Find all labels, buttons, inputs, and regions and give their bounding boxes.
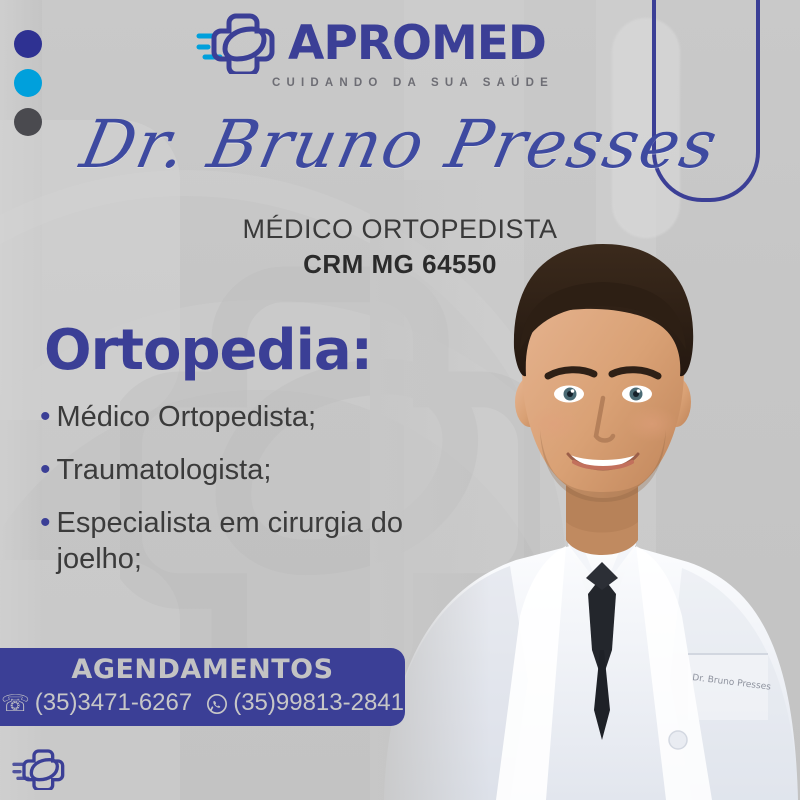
doctor-crm: CRM MG 64550	[0, 249, 800, 280]
logo-tagline: CUIDANDO DA SUA SAÚDE	[272, 77, 554, 89]
medical-cross-leaf-icon	[196, 12, 280, 74]
whatsapp-link[interactable]: (35)99813-2841	[206, 689, 404, 717]
page-title: Ortopedia:	[44, 318, 372, 383]
list-item-label: Especialista em cirurgia do joelho;	[57, 506, 460, 578]
contact-row: ☏ (35)3471-6267 (35)99813-2841	[0, 689, 405, 717]
list-item: • Especialista em cirurgia do joelho;	[40, 506, 460, 578]
whatsapp-number: (35)99813-2841	[233, 689, 404, 717]
doctor-role: MÉDICO ORTOPEDISTA	[0, 214, 800, 245]
dot-cyan	[14, 69, 42, 97]
aprómed-logo: APROMED CUIDANDO DA SUA SAÚDE	[196, 12, 566, 90]
bullet-icon: •	[40, 400, 51, 435]
list-item-label: Traumatologista;	[57, 453, 272, 489]
promo-card: Dr. Bruno Presses APRO	[0, 0, 800, 800]
appointments-bar: AGENDAMENTOS ☏ (35)3471-6267 (35)99813-2…	[0, 648, 405, 726]
whatsapp-icon	[206, 692, 228, 715]
phone-link[interactable]: ☏ (35)3471-6267	[1, 689, 192, 717]
list-item: • Traumatologista;	[40, 453, 460, 489]
list-item: • Médico Ortopedista;	[40, 400, 460, 436]
bullet-icon: •	[40, 453, 51, 488]
list-item-label: Médico Ortopedista;	[57, 400, 317, 436]
specialty-list: • Médico Ortopedista; • Traumatologista;…	[40, 400, 460, 595]
phone-number: (35)3471-6267	[35, 689, 192, 717]
footer-logo-icon	[12, 748, 68, 790]
appointments-title: AGENDAMENTOS	[0, 654, 405, 685]
telephone-icon: ☏	[1, 692, 30, 715]
logo-wordmark: APROMED	[288, 20, 546, 67]
bullet-icon: •	[40, 506, 51, 541]
doctor-name: Dr. Bruno Presses	[0, 106, 800, 183]
dot-blue	[14, 30, 42, 58]
